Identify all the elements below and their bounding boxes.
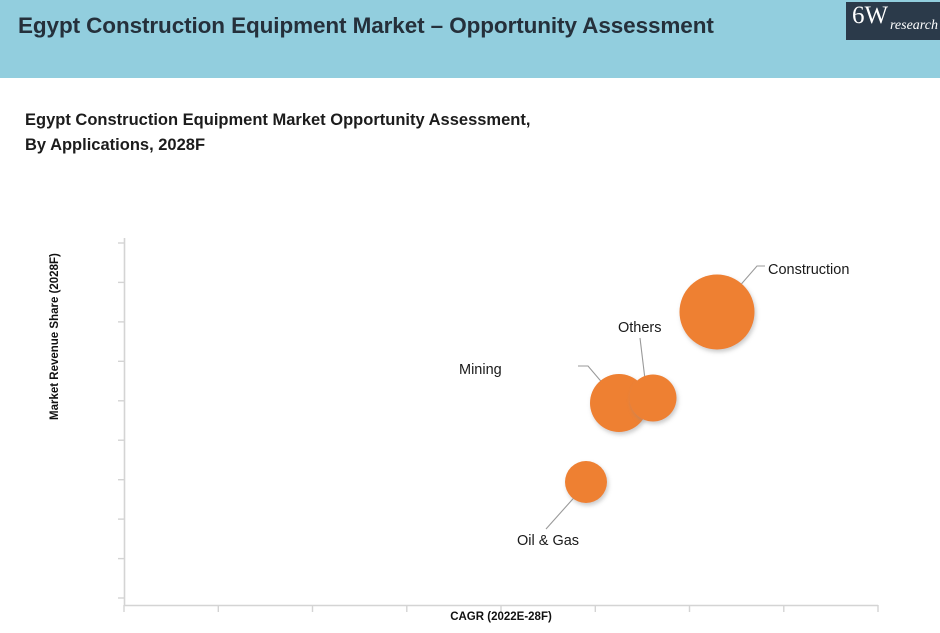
bubbles-group xyxy=(565,275,755,504)
y-axis-title: Market Revenue Share (2028F) xyxy=(49,253,61,420)
bubble-label-others: Others xyxy=(618,320,662,336)
chart-page: Egypt Construction Equipment Market – Op… xyxy=(0,0,940,633)
x-axis-title: CAGR (2022E-28F) xyxy=(450,611,552,623)
bubble-label-construction: Construction xyxy=(768,262,849,278)
chart-canvas: Market Revenue Share (2028F) CAGR (2022E… xyxy=(0,0,940,633)
bubble-chart: Market Revenue Share (2028F) CAGR (2022E… xyxy=(0,0,940,633)
axes-group xyxy=(118,238,878,612)
bubble-construction[interactable] xyxy=(680,275,755,350)
bubble-others[interactable] xyxy=(630,375,677,422)
bubble-label-oil-gas: Oil & Gas xyxy=(517,533,579,549)
bubble-oil-gas[interactable] xyxy=(565,461,607,503)
bubble-label-mining: Mining xyxy=(459,362,502,378)
